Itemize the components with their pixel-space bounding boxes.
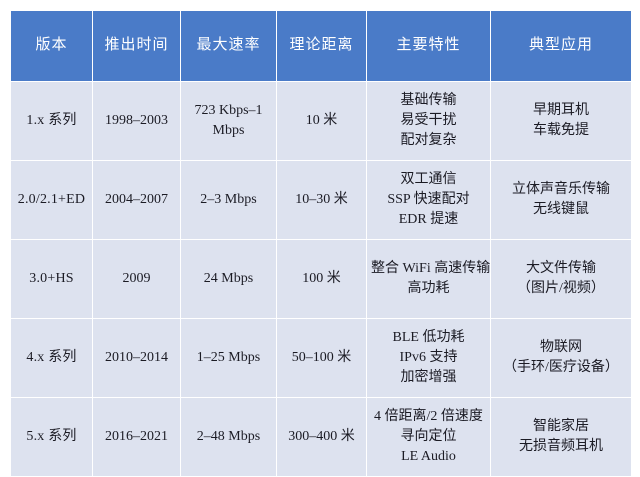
cell-line: 2009 (97, 269, 176, 289)
cell-line: 双工通信 (371, 170, 486, 190)
cell-distance: 100 米 (277, 240, 366, 318)
cell-line: 物联网 (495, 338, 627, 358)
cell-speed: 1–25 Mbps (181, 319, 276, 397)
column-header-distance: 理论距离 (277, 11, 366, 81)
cell-line: SSP 快速配对 (371, 190, 486, 210)
cell-line: 易受干扰 (371, 111, 486, 131)
cell-version: 5.x 系列 (11, 398, 92, 476)
column-header-version: 版本 (11, 11, 92, 81)
cell-line: 2016–2021 (97, 427, 176, 447)
cell-line: 早期耳机 (495, 101, 627, 121)
cell-line: 加密增强 (371, 368, 486, 388)
cell-line: 4.x 系列 (15, 348, 88, 368)
cell-version: 4.x 系列 (11, 319, 92, 397)
cell-line: IPv6 支持 (371, 348, 486, 368)
cell-line: 基础传输 (371, 91, 486, 111)
cell-usecase: 立体声音乐传输无线键鼠 (491, 161, 631, 239)
cell-line: 大文件传输 (495, 259, 627, 279)
cell-version: 2.0/2.1+ED (11, 161, 92, 239)
column-header-usecase: 典型应用 (491, 11, 631, 81)
cell-distance: 50–100 米 (277, 319, 366, 397)
cell-line: 3.0+HS (15, 269, 88, 289)
cell-distance: 10 米 (277, 82, 366, 160)
cell-speed: 723 Kbps–1Mbps (181, 82, 276, 160)
cell-features: 双工通信SSP 快速配对EDR 提速 (367, 161, 490, 239)
cell-features: 整合 WiFi 高速传输高功耗 (367, 240, 490, 318)
cell-line: 1.x 系列 (15, 111, 88, 131)
cell-year: 2004–2007 (93, 161, 180, 239)
cell-line: 24 Mbps (185, 269, 272, 289)
cell-line: EDR 提速 (371, 210, 486, 230)
cell-line: 寻向定位 (371, 427, 486, 447)
cell-line: 无损音频耳机 (495, 437, 627, 457)
cell-distance: 300–400 米 (277, 398, 366, 476)
cell-features: 基础传输易受干扰配对复杂 (367, 82, 490, 160)
cell-line: 2.0/2.1+ED (15, 190, 88, 210)
cell-speed: 2–48 Mbps (181, 398, 276, 476)
cell-line: 无线键鼠 (495, 200, 627, 220)
cell-line: 2–3 Mbps (185, 190, 272, 210)
cell-line: 10–30 米 (281, 190, 362, 210)
cell-line: （手环/医疗设备） (495, 358, 627, 378)
cell-line: 高功耗 (371, 279, 486, 299)
cell-usecase: 大文件传输（图片/视频） (491, 240, 631, 318)
cell-features: 4 倍距离/2 倍速度寻向定位LE Audio (367, 398, 490, 476)
cell-line: 2010–2014 (97, 348, 176, 368)
cell-version: 1.x 系列 (11, 82, 92, 160)
cell-line: 车载免提 (495, 121, 627, 141)
cell-line: 4 倍距离/2 倍速度 (371, 407, 486, 427)
cell-line: 1998–2003 (97, 111, 176, 131)
column-header-features: 主要特性 (367, 11, 490, 81)
cell-year: 2016–2021 (93, 398, 180, 476)
table-body: 1.x 系列1998–2003723 Kbps–1Mbps10 米基础传输易受干… (11, 82, 631, 476)
cell-year: 2010–2014 (93, 319, 180, 397)
cell-line: 50–100 米 (281, 348, 362, 368)
cell-year: 2009 (93, 240, 180, 318)
table-row: 3.0+HS200924 Mbps100 米整合 WiFi 高速传输高功耗大文件… (11, 240, 631, 318)
cell-version: 3.0+HS (11, 240, 92, 318)
cell-year: 1998–2003 (93, 82, 180, 160)
column-header-year: 推出时间 (93, 11, 180, 81)
cell-distance: 10–30 米 (277, 161, 366, 239)
cell-line: 5.x 系列 (15, 427, 88, 447)
cell-line: 2004–2007 (97, 190, 176, 210)
cell-line: （图片/视频） (495, 279, 627, 299)
cell-line: 100 米 (281, 269, 362, 289)
cell-line: 723 Kbps–1 (185, 101, 272, 121)
bluetooth-version-comparison-table: 版本 推出时间 最大速率 理论距离 主要特性 典型应用 1.x 系列1998–2… (10, 10, 632, 477)
cell-line: 300–400 米 (281, 427, 362, 447)
cell-line: 立体声音乐传输 (495, 180, 627, 200)
cell-line: 智能家居 (495, 417, 627, 437)
table-row: 2.0/2.1+ED2004–20072–3 Mbps10–30 米双工通信SS… (11, 161, 631, 239)
cell-line: LE Audio (371, 447, 486, 467)
header-row: 版本 推出时间 最大速率 理论距离 主要特性 典型应用 (11, 11, 631, 81)
cell-features: BLE 低功耗IPv6 支持加密增强 (367, 319, 490, 397)
cell-line: 配对复杂 (371, 131, 486, 151)
cell-speed: 2–3 Mbps (181, 161, 276, 239)
table-row: 5.x 系列2016–20212–48 Mbps300–400 米4 倍距离/2… (11, 398, 631, 476)
cell-line: BLE 低功耗 (371, 328, 486, 348)
cell-line: 1–25 Mbps (185, 348, 272, 368)
cell-speed: 24 Mbps (181, 240, 276, 318)
cell-usecase: 物联网（手环/医疗设备） (491, 319, 631, 397)
table-header: 版本 推出时间 最大速率 理论距离 主要特性 典型应用 (11, 11, 631, 81)
cell-line: 整合 WiFi 高速传输 (371, 259, 486, 279)
cell-line: 2–48 Mbps (185, 427, 272, 447)
table-row: 4.x 系列2010–20141–25 Mbps50–100 米BLE 低功耗I… (11, 319, 631, 397)
cell-usecase: 智能家居无损音频耳机 (491, 398, 631, 476)
column-header-speed: 最大速率 (181, 11, 276, 81)
cell-line: Mbps (185, 121, 272, 141)
cell-usecase: 早期耳机车载免提 (491, 82, 631, 160)
table-row: 1.x 系列1998–2003723 Kbps–1Mbps10 米基础传输易受干… (11, 82, 631, 160)
cell-line: 10 米 (281, 111, 362, 131)
